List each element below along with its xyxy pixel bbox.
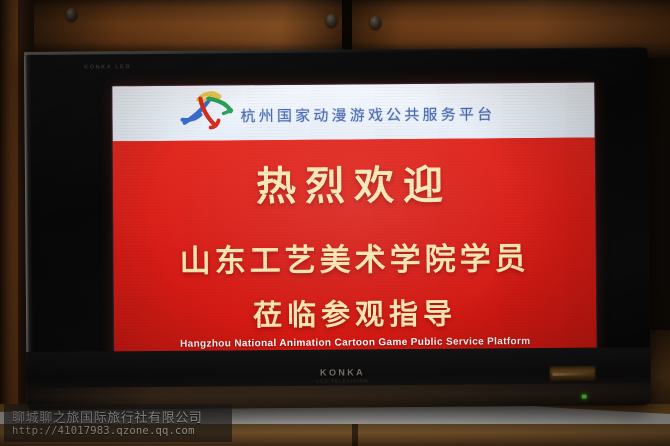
hangzhou-animation-platform-logo bbox=[178, 89, 234, 135]
watermark-url[interactable]: http://41017983.qzone.qq.com bbox=[12, 425, 195, 437]
photograph-of-television: KONKA LED 杭州国家动漫游戏公共服务平台 热烈欢迎 山东工艺美 bbox=[0, 0, 670, 446]
cabinet-knob bbox=[66, 8, 77, 21]
cabinet-knob bbox=[326, 14, 337, 27]
television-set: KONKA LED 杭州国家动漫游戏公共服务平台 热烈欢迎 山东工艺美 bbox=[24, 47, 651, 410]
welcome-heading: 热烈欢迎 bbox=[113, 152, 595, 214]
cabinet-knob bbox=[370, 16, 381, 29]
power-led-indicator bbox=[582, 395, 587, 399]
tv-top-label: KONKA LED bbox=[84, 64, 131, 70]
watermark-company-name: 聊城聊之旅国际旅行社有限公司 bbox=[12, 407, 202, 426]
tv-brand-subtitle: LCD TELEVISION bbox=[293, 378, 393, 384]
slide-header-title: 杭州国家动漫游戏公共服务平台 bbox=[240, 103, 550, 126]
tv-brand-logo: KONKA bbox=[292, 367, 392, 378]
guest-group-line: 山东工艺美术学院学员 bbox=[113, 233, 595, 282]
slide-body: 热烈欢迎 山东工艺美术学院学员 莅临参观指导 Hangzhou National… bbox=[113, 138, 597, 363]
visit-purpose-line: 莅临参观指导 bbox=[114, 290, 596, 336]
tv-ir-sensor-strip bbox=[553, 373, 591, 376]
tv-screen: 杭州国家动漫游戏公共服务平台 热烈欢迎 山东工艺美术学院学员 莅临参观指导 Ha… bbox=[112, 83, 596, 363]
tv-stand-seam bbox=[352, 424, 358, 446]
slide-header-band: 杭州国家动漫游戏公共服务平台 bbox=[112, 83, 594, 142]
